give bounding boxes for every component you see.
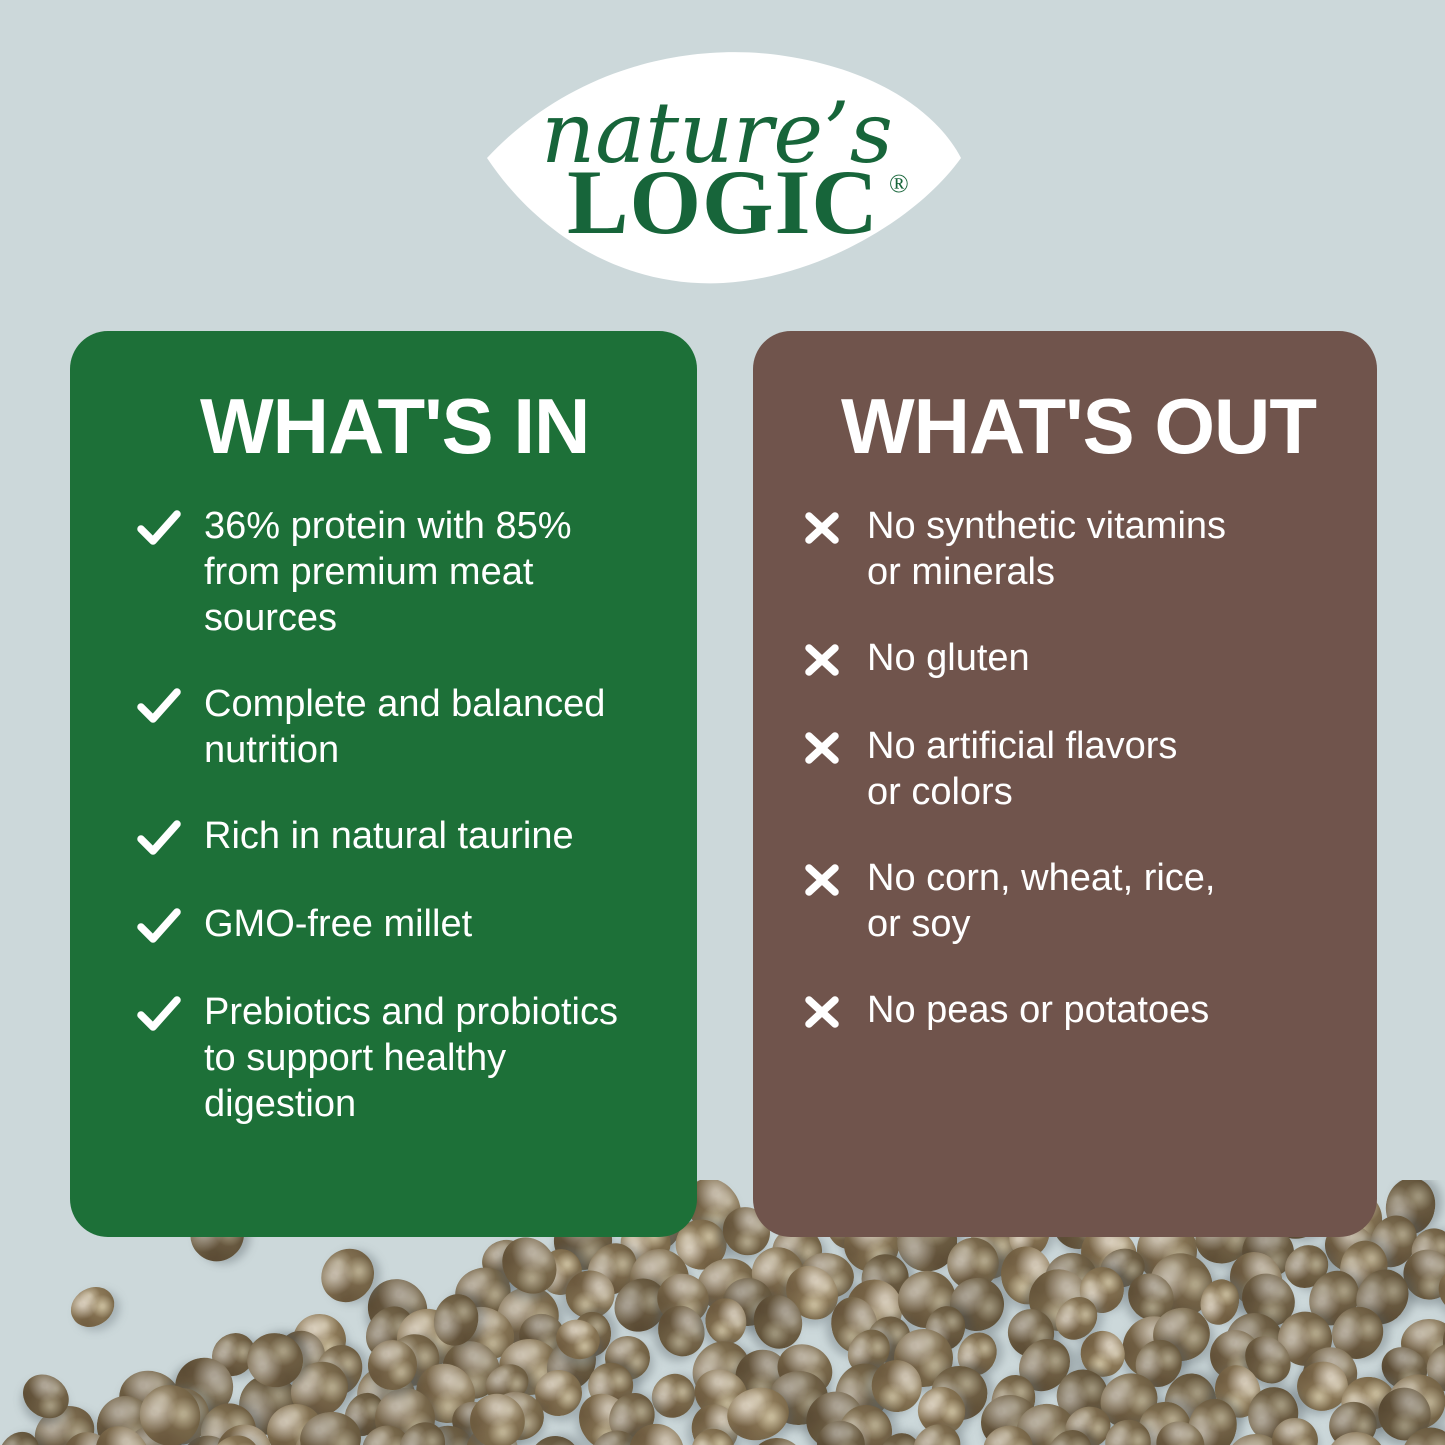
check-icon xyxy=(136,505,182,551)
x-icon xyxy=(799,725,845,771)
list-item: No gluten xyxy=(783,635,1347,683)
list-item: 36% protein with 85% from premium meat s… xyxy=(100,503,667,641)
x-icon xyxy=(799,989,845,1035)
panel-whats-in-title: WHAT'S IN xyxy=(100,383,667,469)
panel-whats-out: WHAT'S OUT No synthetic vitamins or mine… xyxy=(753,331,1377,1237)
natures-logic-logo: nature’s LOGIC ® xyxy=(485,50,963,286)
list-item-label: Rich in natural taurine xyxy=(204,813,667,859)
list-item: Complete and balanced nutrition xyxy=(100,681,667,773)
x-icon xyxy=(799,505,845,551)
promo-graphic: nature’s LOGIC ® WHAT'S IN 36% protein w… xyxy=(0,0,1445,1445)
list-item: Prebiotics and probiotics to support hea… xyxy=(100,989,667,1127)
list-item: No corn, wheat, rice, or soy xyxy=(783,855,1347,947)
panel-whats-out-list: No synthetic vitamins or minerals No glu… xyxy=(783,503,1347,1035)
list-item-label: No gluten xyxy=(867,635,1347,681)
x-icon xyxy=(799,857,845,903)
list-item-label: GMO-free millet xyxy=(204,901,667,947)
list-item: No peas or potatoes xyxy=(783,987,1347,1035)
list-item: No synthetic vitamins or minerals xyxy=(783,503,1347,595)
list-item-label: 36% protein with 85% from premium meat s… xyxy=(204,503,667,641)
svg-text:LOGIC: LOGIC xyxy=(567,151,879,253)
list-item: GMO-free millet xyxy=(100,901,667,949)
check-icon xyxy=(136,815,182,861)
panel-whats-in-list: 36% protein with 85% from premium meat s… xyxy=(100,503,667,1127)
check-icon xyxy=(136,991,182,1037)
list-item-label: No peas or potatoes xyxy=(867,987,1347,1033)
list-item-label: No synthetic vitamins or minerals xyxy=(867,503,1347,595)
list-item-label: No artificial flavors or colors xyxy=(867,723,1347,815)
list-item-label: No corn, wheat, rice, or soy xyxy=(867,855,1347,947)
panel-whats-out-title: WHAT'S OUT xyxy=(783,383,1347,469)
check-icon xyxy=(136,683,182,729)
list-item-label: Complete and balanced nutrition xyxy=(204,681,667,773)
list-item: Rich in natural taurine xyxy=(100,813,667,861)
list-item-label: Prebiotics and probiotics to support hea… xyxy=(204,989,667,1127)
kibble-piece xyxy=(64,1279,122,1334)
list-item: No artificial flavors or colors xyxy=(783,723,1347,815)
x-icon xyxy=(799,637,845,683)
panel-whats-in: WHAT'S IN 36% protein with 85% from prem… xyxy=(70,331,697,1237)
check-icon xyxy=(136,903,182,949)
svg-text:®: ® xyxy=(889,169,909,198)
